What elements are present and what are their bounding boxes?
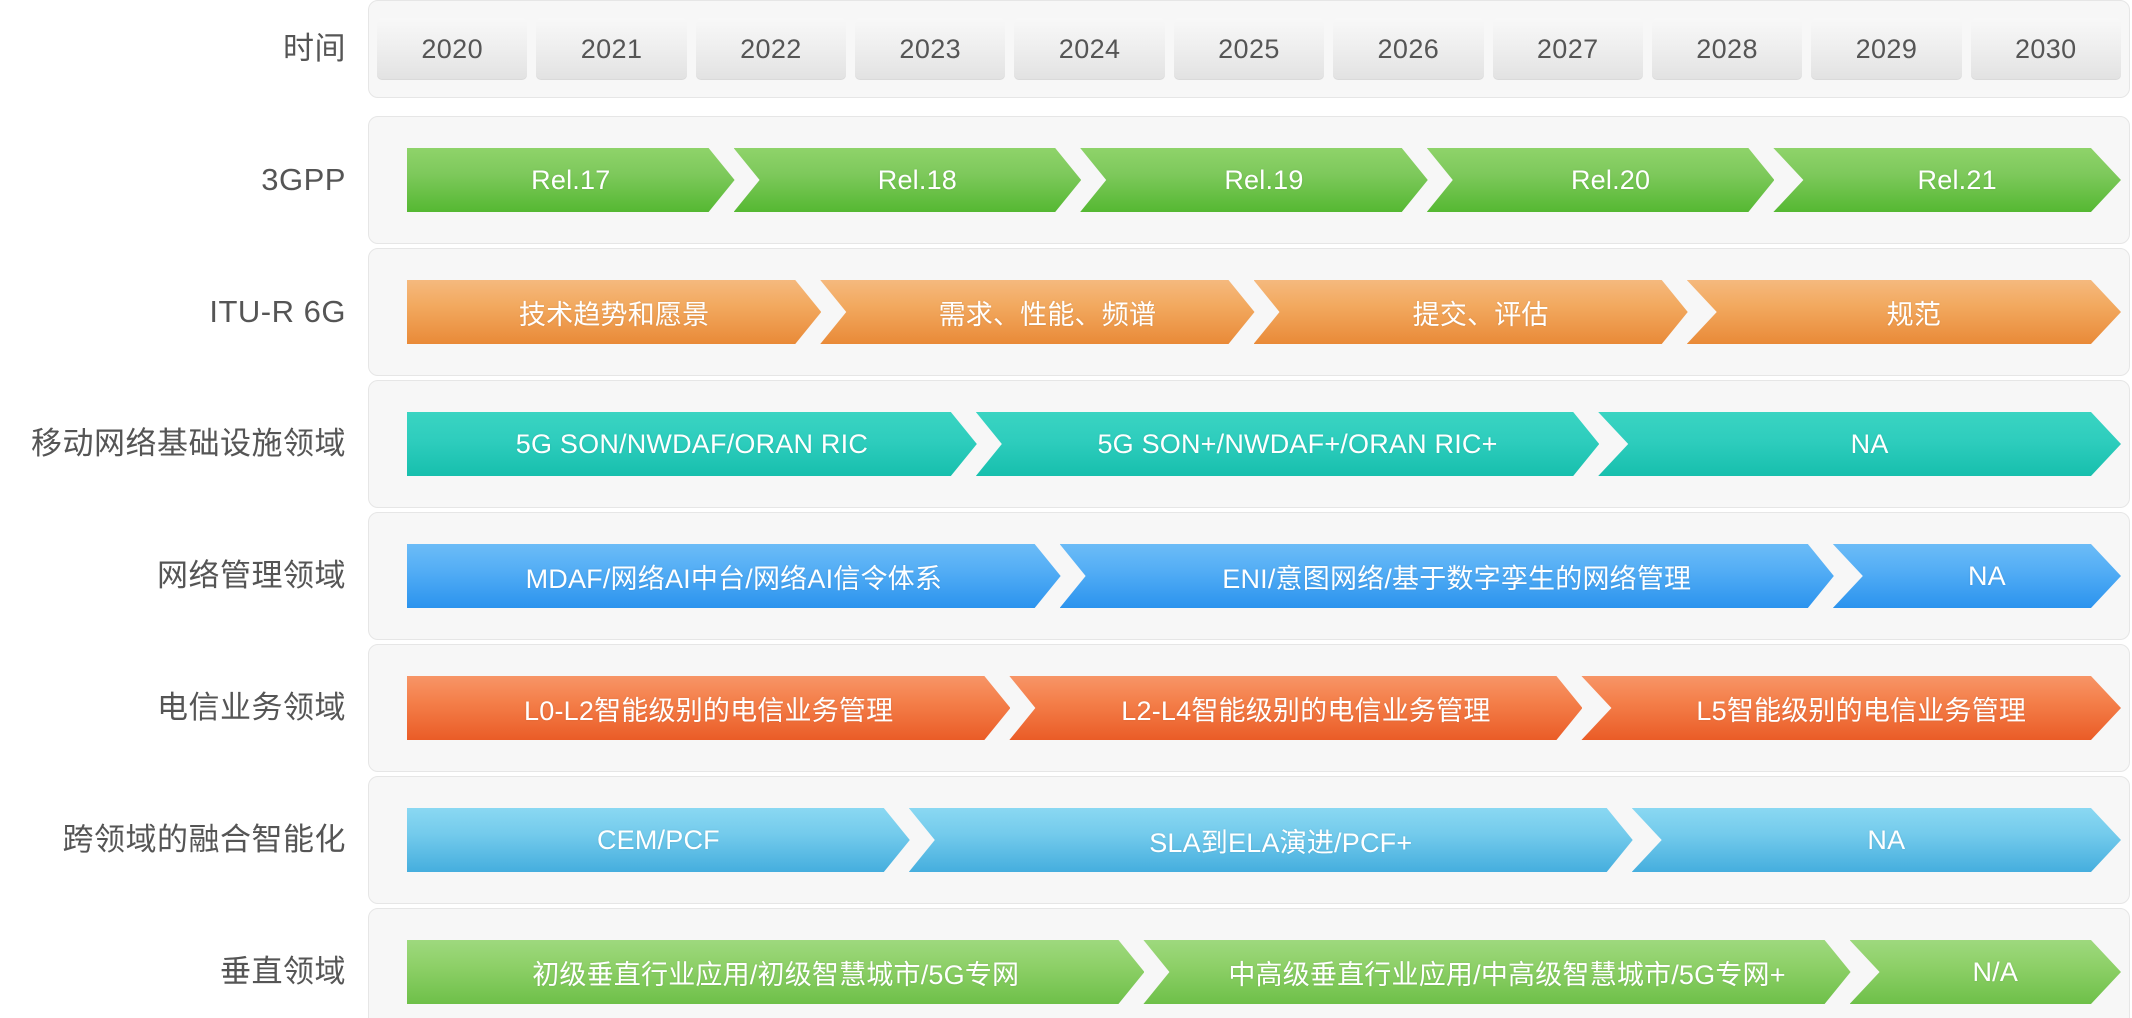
chevron-segment-label: NA [1851, 429, 1889, 460]
roadmap-row-infra: 移动网络基础设施领域5G SON/NWDAF/ORAN RIC5G SON+/N… [0, 380, 2132, 508]
year-cell-2022[interactable]: 2022 [696, 18, 846, 80]
row-label-3gpp: 3GPP [0, 162, 368, 198]
chevron-segment-label: SLA到ELA演进/PCF+ [1149, 821, 1412, 860]
year-cell-list: 2020202120222023202420252026202720282029… [377, 18, 2121, 80]
chevron-segment-netmgt-0[interactable]: MDAF/网络AI中台/网络AI信令体系 [407, 544, 1061, 608]
year-cell-2023[interactable]: 2023 [855, 18, 1005, 80]
chevron-segment-itu-2[interactable]: 提交、评估 [1254, 280, 1688, 344]
chevron-segment-label: 5G SON+/NWDAF+/ORAN RIC+ [1097, 429, 1497, 460]
chevron-segment-label: N/A [1972, 957, 2018, 988]
row-track-itu: 技术趋势和愿景需求、性能、频谱提交、评估规范 [368, 248, 2130, 376]
chevron-segment-itu-0[interactable]: 技术趋势和愿景 [407, 280, 821, 344]
chevron-segment-vert-1[interactable]: 中高级垂直行业应用/中高级智慧城市/5G专网+ [1143, 940, 1850, 1004]
chevron-segment-netmgt-1[interactable]: ENI/意图网络/基于数字孪生的网络管理 [1060, 544, 1834, 608]
chevron-segment-label: 技术趋势和愿景 [519, 293, 709, 332]
chevron-segment-label: Rel.21 [1918, 165, 1997, 196]
timeline-row: 时间 2020202120222023202420252026202720282… [0, 0, 2132, 98]
chevron-segment-label: 中高级垂直行业应用/中高级智慧城市/5G专网+ [1228, 953, 1785, 992]
chevron-segment-label: NA [1968, 561, 2006, 592]
chevron-segment-netmgt-2[interactable]: NA [1833, 544, 2121, 608]
roadmap-diagram: 时间 2020202120222023202420252026202720282… [0, 0, 2132, 1018]
chevron-bar-netmgt: MDAF/网络AI中台/网络AI信令体系ENI/意图网络/基于数字孪生的网络管理… [407, 544, 2121, 608]
chevron-segment-3gpp-3[interactable]: Rel.20 [1427, 148, 1775, 212]
roadmap-row-3gpp: 3GPPRel.17Rel.18Rel.19Rel.20Rel.21 [0, 116, 2132, 244]
row-label-cross: 跨领域的融合智能化 [0, 822, 368, 858]
chevron-segment-infra-1[interactable]: 5G SON+/NWDAF+/ORAN RIC+ [976, 412, 1599, 476]
chevron-bar-vert: 初级垂直行业应用/初级智慧城市/5G专网中高级垂直行业应用/中高级智慧城市/5G… [407, 940, 2121, 1004]
row-track-3gpp: Rel.17Rel.18Rel.19Rel.20Rel.21 [368, 116, 2130, 244]
roadmap-row-cross: 跨领域的融合智能化CEM/PCFSLA到ELA演进/PCF+NA [0, 776, 2132, 904]
row-track-infra: 5G SON/NWDAF/ORAN RIC5G SON+/NWDAF+/ORAN… [368, 380, 2130, 508]
chevron-segment-itu-1[interactable]: 需求、性能、频谱 [820, 280, 1254, 344]
chevron-segment-label: 初级垂直行业应用/初级智慧城市/5G专网 [532, 953, 1019, 992]
row-track-vert: 初级垂直行业应用/初级智慧城市/5G专网中高级垂直行业应用/中高级智慧城市/5G… [368, 908, 2130, 1018]
chevron-segment-telco-0[interactable]: L0-L2智能级别的电信业务管理 [407, 676, 1010, 740]
chevron-segment-label: Rel.17 [531, 165, 610, 196]
chevron-bar-3gpp: Rel.17Rel.18Rel.19Rel.20Rel.21 [407, 148, 2121, 212]
row-label-netmgt: 网络管理领域 [0, 558, 368, 594]
year-cell-2028[interactable]: 2028 [1652, 18, 1802, 80]
chevron-segment-label: MDAF/网络AI中台/网络AI信令体系 [526, 557, 943, 596]
roadmap-row-vert: 垂直领域初级垂直行业应用/初级智慧城市/5G专网中高级垂直行业应用/中高级智慧城… [0, 908, 2132, 1018]
chevron-bar-cross: CEM/PCFSLA到ELA演进/PCF+NA [407, 808, 2121, 872]
year-cell-2021[interactable]: 2021 [536, 18, 686, 80]
chevron-segment-label: L0-L2智能级别的电信业务管理 [524, 689, 893, 728]
timeline-track: 2020202120222023202420252026202720282029… [368, 0, 2130, 98]
row-track-telco: L0-L2智能级别的电信业务管理L2-L4智能级别的电信业务管理L5智能级别的电… [368, 644, 2130, 772]
chevron-segment-telco-2[interactable]: L5智能级别的电信业务管理 [1581, 676, 2121, 740]
chevron-segment-itu-3[interactable]: 规范 [1687, 280, 2121, 344]
year-cell-2027[interactable]: 2027 [1493, 18, 1643, 80]
chevron-segment-infra-2[interactable]: NA [1598, 412, 2121, 476]
chevron-segment-telco-1[interactable]: L2-L4智能级别的电信业务管理 [1009, 676, 1582, 740]
year-cell-2030[interactable]: 2030 [1971, 18, 2121, 80]
chevron-segment-label: 提交、评估 [1413, 293, 1549, 332]
chevron-bar-telco: L0-L2智能级别的电信业务管理L2-L4智能级别的电信业务管理L5智能级别的电… [407, 676, 2121, 740]
chevron-segment-label: 规范 [1887, 293, 1941, 332]
chevron-segment-vert-0[interactable]: 初级垂直行业应用/初级智慧城市/5G专网 [407, 940, 1144, 1004]
chevron-segment-label: 需求、性能、频谱 [939, 293, 1157, 332]
chevron-segment-3gpp-4[interactable]: Rel.21 [1773, 148, 2121, 212]
chevron-bar-itu: 技术趋势和愿景需求、性能、频谱提交、评估规范 [407, 280, 2121, 344]
chevron-segment-label: L2-L4智能级别的电信业务管理 [1121, 689, 1490, 728]
chevron-segment-infra-0[interactable]: 5G SON/NWDAF/ORAN RIC [407, 412, 977, 476]
roadmap-row-itu: ITU-R 6G技术趋势和愿景需求、性能、频谱提交、评估规范 [0, 248, 2132, 376]
year-cell-2026[interactable]: 2026 [1333, 18, 1483, 80]
row-track-netmgt: MDAF/网络AI中台/网络AI信令体系ENI/意图网络/基于数字孪生的网络管理… [368, 512, 2130, 640]
chevron-segment-label: Rel.20 [1571, 165, 1650, 196]
row-label-telco: 电信业务领域 [0, 690, 368, 726]
chevron-bar-infra: 5G SON/NWDAF/ORAN RIC5G SON+/NWDAF+/ORAN… [407, 412, 2121, 476]
chevron-segment-label: CEM/PCF [597, 825, 720, 856]
chevron-segment-cross-0[interactable]: CEM/PCF [407, 808, 910, 872]
chevron-segment-label: ENI/意图网络/基于数字孪生的网络管理 [1222, 557, 1691, 596]
chevron-segment-vert-2[interactable]: N/A [1850, 940, 2121, 1004]
chevron-segment-3gpp-1[interactable]: Rel.18 [734, 148, 1082, 212]
chevron-segment-label: Rel.18 [878, 165, 957, 196]
row-label-infra: 移动网络基础设施领域 [0, 426, 368, 462]
year-cell-2024[interactable]: 2024 [1014, 18, 1164, 80]
chevron-segment-3gpp-2[interactable]: Rel.19 [1080, 148, 1428, 212]
timeline-row-label: 时间 [0, 31, 368, 67]
chevron-segment-3gpp-0[interactable]: Rel.17 [407, 148, 735, 212]
chevron-segment-label: Rel.19 [1224, 165, 1303, 196]
row-track-cross: CEM/PCFSLA到ELA演进/PCF+NA [368, 776, 2130, 904]
chevron-segment-label: L5智能级别的电信业务管理 [1696, 689, 2026, 728]
row-label-itu: ITU-R 6G [0, 294, 368, 330]
chevron-segment-label: 5G SON/NWDAF/ORAN RIC [516, 429, 868, 460]
chevron-segment-label: NA [1867, 825, 1905, 856]
roadmap-row-netmgt: 网络管理领域MDAF/网络AI中台/网络AI信令体系ENI/意图网络/基于数字孪… [0, 512, 2132, 640]
chevron-segment-cross-1[interactable]: SLA到ELA演进/PCF+ [909, 808, 1633, 872]
year-cell-2025[interactable]: 2025 [1174, 18, 1324, 80]
year-cell-2020[interactable]: 2020 [377, 18, 527, 80]
chevron-segment-cross-2[interactable]: NA [1632, 808, 2121, 872]
roadmap-row-telco: 电信业务领域L0-L2智能级别的电信业务管理L2-L4智能级别的电信业务管理L5… [0, 644, 2132, 772]
row-label-vert: 垂直领域 [0, 954, 368, 990]
year-cell-2029[interactable]: 2029 [1811, 18, 1961, 80]
